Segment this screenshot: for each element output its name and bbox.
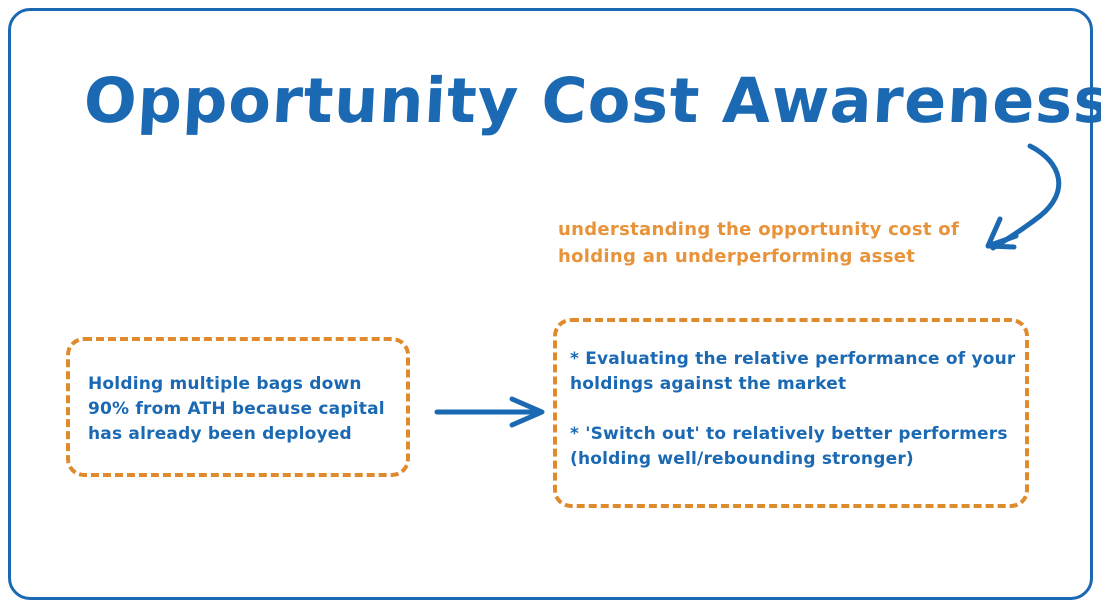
right-box-text: * Evaluating the relative performance of… bbox=[570, 347, 1030, 472]
right-box-bullet-2-line-1: * 'Switch out' to relatively better perf… bbox=[570, 422, 1030, 447]
left-box-line-3: has already been deployed bbox=[88, 422, 408, 447]
right-box-bullet-1-line-1: * Evaluating the relative performance of… bbox=[570, 347, 1030, 372]
right-box-bullet-2-line-2: (holding well/rebounding stronger) bbox=[570, 447, 1030, 472]
right-box-bullet-1-line-2: holdings against the market bbox=[570, 372, 1030, 397]
right-box-bullet-1: * Evaluating the relative performance of… bbox=[570, 347, 1030, 397]
annotation-line-2: holding an underperforming asset bbox=[558, 243, 998, 270]
right-box-bullet-2: * 'Switch out' to relatively better perf… bbox=[570, 422, 1030, 472]
diagram-canvas: Opportunity Cost Awareness understanding… bbox=[0, 0, 1101, 609]
left-box-line-1: Holding multiple bags down bbox=[88, 372, 408, 397]
annotation-line-1: understanding the opportunity cost of bbox=[558, 216, 998, 243]
left-box-text: Holding multiple bags down 90% from ATH … bbox=[88, 372, 408, 447]
annotation-text: understanding the opportunity cost of ho… bbox=[558, 216, 998, 270]
page-title: Opportunity Cost Awareness bbox=[82, 66, 1046, 136]
left-box-line-2: 90% from ATH because capital bbox=[88, 397, 408, 422]
